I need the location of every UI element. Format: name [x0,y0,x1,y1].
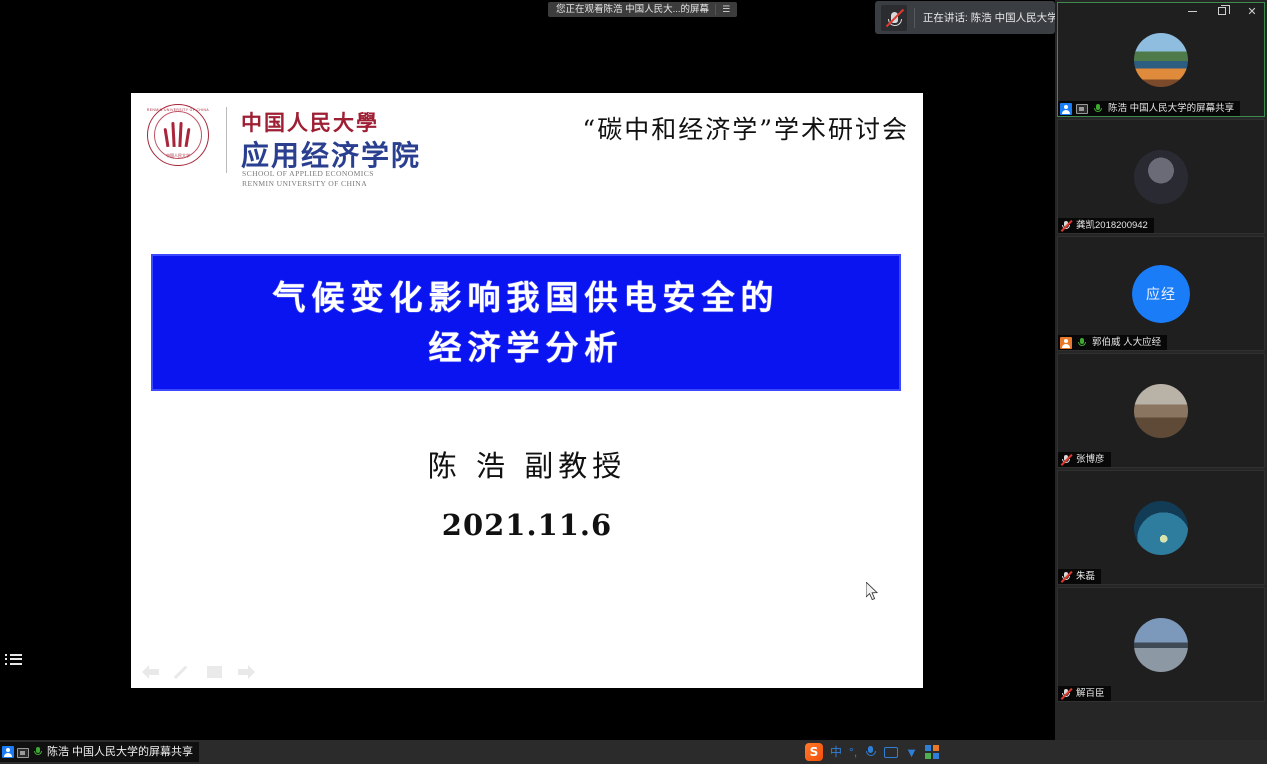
screen-share-icon [17,748,29,758]
mic-muted-icon [1060,688,1072,700]
muted-mic-icon [881,5,907,31]
participant-name: 张博彦 [1076,452,1105,467]
avatar [1134,501,1188,555]
mouse-cursor [866,582,879,601]
avatar [1134,33,1188,87]
restore-button[interactable] [1207,0,1237,22]
school-name-en: SCHOOL OF APPLIED ECONOMICS RENMIN UNIVE… [242,169,374,189]
conference-title: “碳中和经济学”学术研讨会 [582,110,909,146]
viewing-screen-text: 您正在观看陈浩 中国人民大...的屏幕 [548,2,715,17]
keyboard-icon[interactable] [884,747,898,758]
window-controls[interactable]: ✕ [1175,0,1267,22]
person-icon [1060,103,1072,115]
avatar [1134,384,1188,438]
participant-name-chip: 郭伯威 人大应经 [1058,335,1167,350]
school-name-cn: 应用经济学院 [241,134,421,174]
participant-filmstrip[interactable]: 陈浩 中国人民大学的屏幕共享 龚凯2018200942 应经 郭伯威 人大应经 [1055,0,1267,740]
participant-tile-zhulei[interactable]: 朱磊 [1057,470,1265,585]
skin-shirt-icon[interactable]: ▼ [905,745,918,760]
participant-name: 龚凯2018200942 [1076,218,1148,233]
slide-title-banner: 气候变化影响我国供电安全的 经济学分析 [151,254,901,391]
close-button[interactable]: ✕ [1237,0,1267,22]
logo-arc-text: RENMIN UNIVERSITY OF CHINA [147,108,209,112]
minimize-button[interactable] [1177,0,1207,22]
slide-header: RENMIN UNIVERSITY OF CHINA 中国人民大学 中国人民大學… [131,93,923,198]
participant-name: 解百臣 [1076,686,1105,701]
ime-mode-button[interactable]: 中 [830,743,842,761]
presenter-name: 陈 浩 副教授 [131,443,923,485]
logo-small-text: 中国人民大学 [166,153,190,159]
viewing-screen-banner[interactable]: 您正在观看陈浩 中国人民大...的屏幕 ☰ [548,2,737,17]
person-icon [1060,337,1072,349]
slide-title-line-1: 气候变化影响我国供电安全的 [273,275,780,321]
slide-menu-icon[interactable] [207,666,222,678]
active-speaker-text: 正在讲话: 陈浩 中国人民大学;... [923,10,1055,25]
sogou-ime-toolbar[interactable]: S 中 °, ▼ [805,742,939,762]
powerpoint-slide: RENMIN UNIVERSITY OF CHINA 中国人民大学 中国人民大學… [131,93,923,688]
screen-share-icon [1076,104,1088,114]
taskbar[interactable]: 陈浩 中国人民大学的屏幕共享 S 中 °, ▼ [0,740,1267,764]
participant-name-chip: 张博彦 [1058,452,1111,467]
sogou-logo-icon[interactable]: S [805,743,823,761]
logo-divider [226,107,227,173]
participant-name-chip: 朱磊 [1058,569,1101,584]
participant-tile-guoboweiy[interactable]: 应经 郭伯威 人大应经 [1057,236,1265,351]
mic-muted-icon [1060,220,1072,232]
zoom-screen-share-window: RENMIN UNIVERSITY OF CHINA 中国人民大学 中国人民大學… [0,0,1267,764]
avatar: 应经 [1132,265,1190,323]
mic-muted-icon [1060,571,1072,583]
renmin-university-logo-icon: RENMIN UNIVERSITY OF CHINA 中国人民大学 [147,104,209,166]
participant-tile-jiebaichen[interactable]: 解百臣 [1057,587,1265,702]
avatar [1134,618,1188,672]
mic-on-icon [32,746,44,758]
avatar-initials: 应经 [1132,265,1190,323]
hamburger-menu-icon[interactable]: ☰ [716,2,737,17]
participant-name-chip: 解百臣 [1058,686,1111,701]
mic-muted-icon [1060,454,1072,466]
microphone-icon[interactable] [864,745,877,760]
participant-name-chip: 龚凯2018200942 [1058,218,1154,233]
participant-name: 郭伯威 人大应经 [1092,335,1161,350]
presentation-date: 2021.11.6 [131,508,923,542]
participant-name: 朱磊 [1076,569,1095,584]
participant-name: 陈浩 中国人民大学的屏幕共享 [1108,101,1234,116]
slideshow-nav-toolbar[interactable] [133,664,255,680]
toolbox-grid-icon[interactable] [925,745,939,759]
mic-on-icon [1092,103,1104,115]
participant-tile-gongkai[interactable]: 龚凯2018200942 [1057,119,1265,234]
taskbar-share-text: 陈浩 中国人民大学的屏幕共享 [47,742,193,762]
previous-slide-icon[interactable] [142,665,159,679]
active-speaker-toast: 正在讲话: 陈浩 中国人民大学;... [875,1,1055,34]
avatar [1134,150,1188,204]
participant-tile-zhangboyan[interactable]: 张博彦 [1057,353,1265,468]
divider [914,8,915,28]
mic-on-icon [1076,337,1088,349]
participant-name-chip: 陈浩 中国人民大学的屏幕共享 [1058,101,1240,116]
annotation-pen-icon[interactable] [175,664,191,680]
university-name-cn: 中国人民大學 [241,107,379,137]
next-slide-icon[interactable] [238,665,255,679]
person-icon [2,746,14,758]
slide-title-line-2: 经济学分析 [429,325,624,371]
ime-punctuation-button[interactable]: °, [849,743,857,761]
list-toggle-icon[interactable] [5,650,23,668]
taskbar-share-indicator[interactable]: 陈浩 中国人民大学的屏幕共享 [0,742,199,762]
shared-screen-area: RENMIN UNIVERSITY OF CHINA 中国人民大学 中国人民大學… [0,0,1055,740]
